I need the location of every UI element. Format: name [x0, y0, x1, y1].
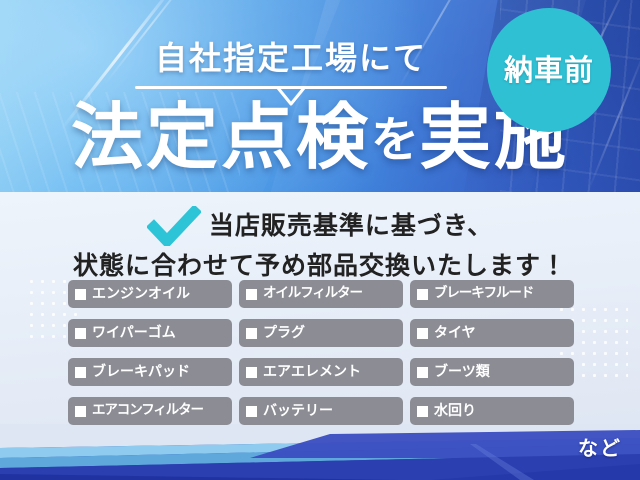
inspection-item-label: ブレーキフルード [434, 287, 533, 301]
inspection-item: エアエレメント [239, 358, 403, 386]
inspection-item: プラグ [239, 319, 403, 347]
checkmark-icon [147, 206, 201, 246]
footer-section: など [0, 424, 640, 480]
promo-banner: 納車前 自社指定工場にて 法定点検を実施 当店販売基準に基づき、 [0, 0, 640, 480]
inspection-item: バッテリー [239, 397, 403, 425]
square-bullet-icon [417, 289, 428, 300]
hero-headline-part1: 法定点検 [71, 95, 371, 179]
inspection-item-label: ワイパーゴム [92, 326, 176, 340]
footer-angled-bands [0, 424, 640, 480]
square-bullet-icon [246, 328, 257, 339]
inspection-item: エアコンフィルター [68, 397, 232, 425]
square-bullet-icon [246, 289, 257, 300]
pre-delivery-badge: 納車前 [487, 8, 611, 132]
square-bullet-icon [75, 328, 86, 339]
inspection-item-label: タイヤ [434, 326, 476, 340]
hero-headline-particle: を [371, 112, 419, 168]
content-panel: 当店販売基準に基づき、 状態に合わせて予め部品交換いたします！ エンジンオイル … [0, 192, 640, 440]
inspection-item-label: オイルフィルター [263, 287, 362, 301]
inspection-item: エンジンオイル [68, 280, 232, 308]
lede-block: 当店販売基準に基づき、 状態に合わせて予め部品交換いたします！ [0, 206, 640, 280]
inspection-item-label: プラグ [263, 326, 305, 340]
lede-line2: 状態に合わせて予め部品交換いたします！ [73, 251, 567, 280]
inspection-item-label: エンジンオイル [92, 287, 190, 301]
square-bullet-icon [75, 289, 86, 300]
square-bullet-icon [417, 406, 428, 417]
square-bullet-icon [417, 367, 428, 378]
hero-subheadline: 自社指定工場にて [149, 40, 433, 83]
lede-line1: 当店販売基準に基づき、 [209, 212, 493, 240]
square-bullet-icon [246, 406, 257, 417]
inspection-item-label: エアエレメント [263, 365, 361, 379]
inspection-item-label: ブーツ類 [434, 365, 490, 379]
inspection-item-label: バッテリー [263, 404, 333, 418]
square-bullet-icon [75, 367, 86, 378]
inspection-item-grid: エンジンオイル オイルフィルター ブレーキフルード ワイパーゴム プラグ タイヤ [68, 280, 574, 425]
pre-delivery-badge-label: 納車前 [504, 56, 594, 85]
inspection-item: 水回り [410, 397, 574, 425]
hero-headline: 法定点検を実施 [71, 100, 569, 176]
inspection-item: ブレーキパッド [68, 358, 232, 386]
lede-line1-row: 当店販売基準に基づき、 [0, 206, 640, 246]
inspection-item: ワイパーゴム [68, 319, 232, 347]
square-bullet-icon [75, 406, 86, 417]
inspection-item-label: エアコンフィルター [92, 404, 203, 418]
inspection-item: タイヤ [410, 319, 574, 347]
square-bullet-icon [417, 328, 428, 339]
inspection-item: ブレーキフルード [410, 280, 574, 308]
lede-line2-row: 状態に合わせて予め部品交換いたします！ [0, 252, 640, 280]
inspection-item-label: 水回り [434, 404, 476, 418]
inspection-item: ブーツ類 [410, 358, 574, 386]
etc-label: など [578, 438, 622, 458]
inspection-item-label: ブレーキパッド [92, 365, 190, 379]
square-bullet-icon [246, 367, 257, 378]
inspection-item: オイルフィルター [239, 280, 403, 308]
